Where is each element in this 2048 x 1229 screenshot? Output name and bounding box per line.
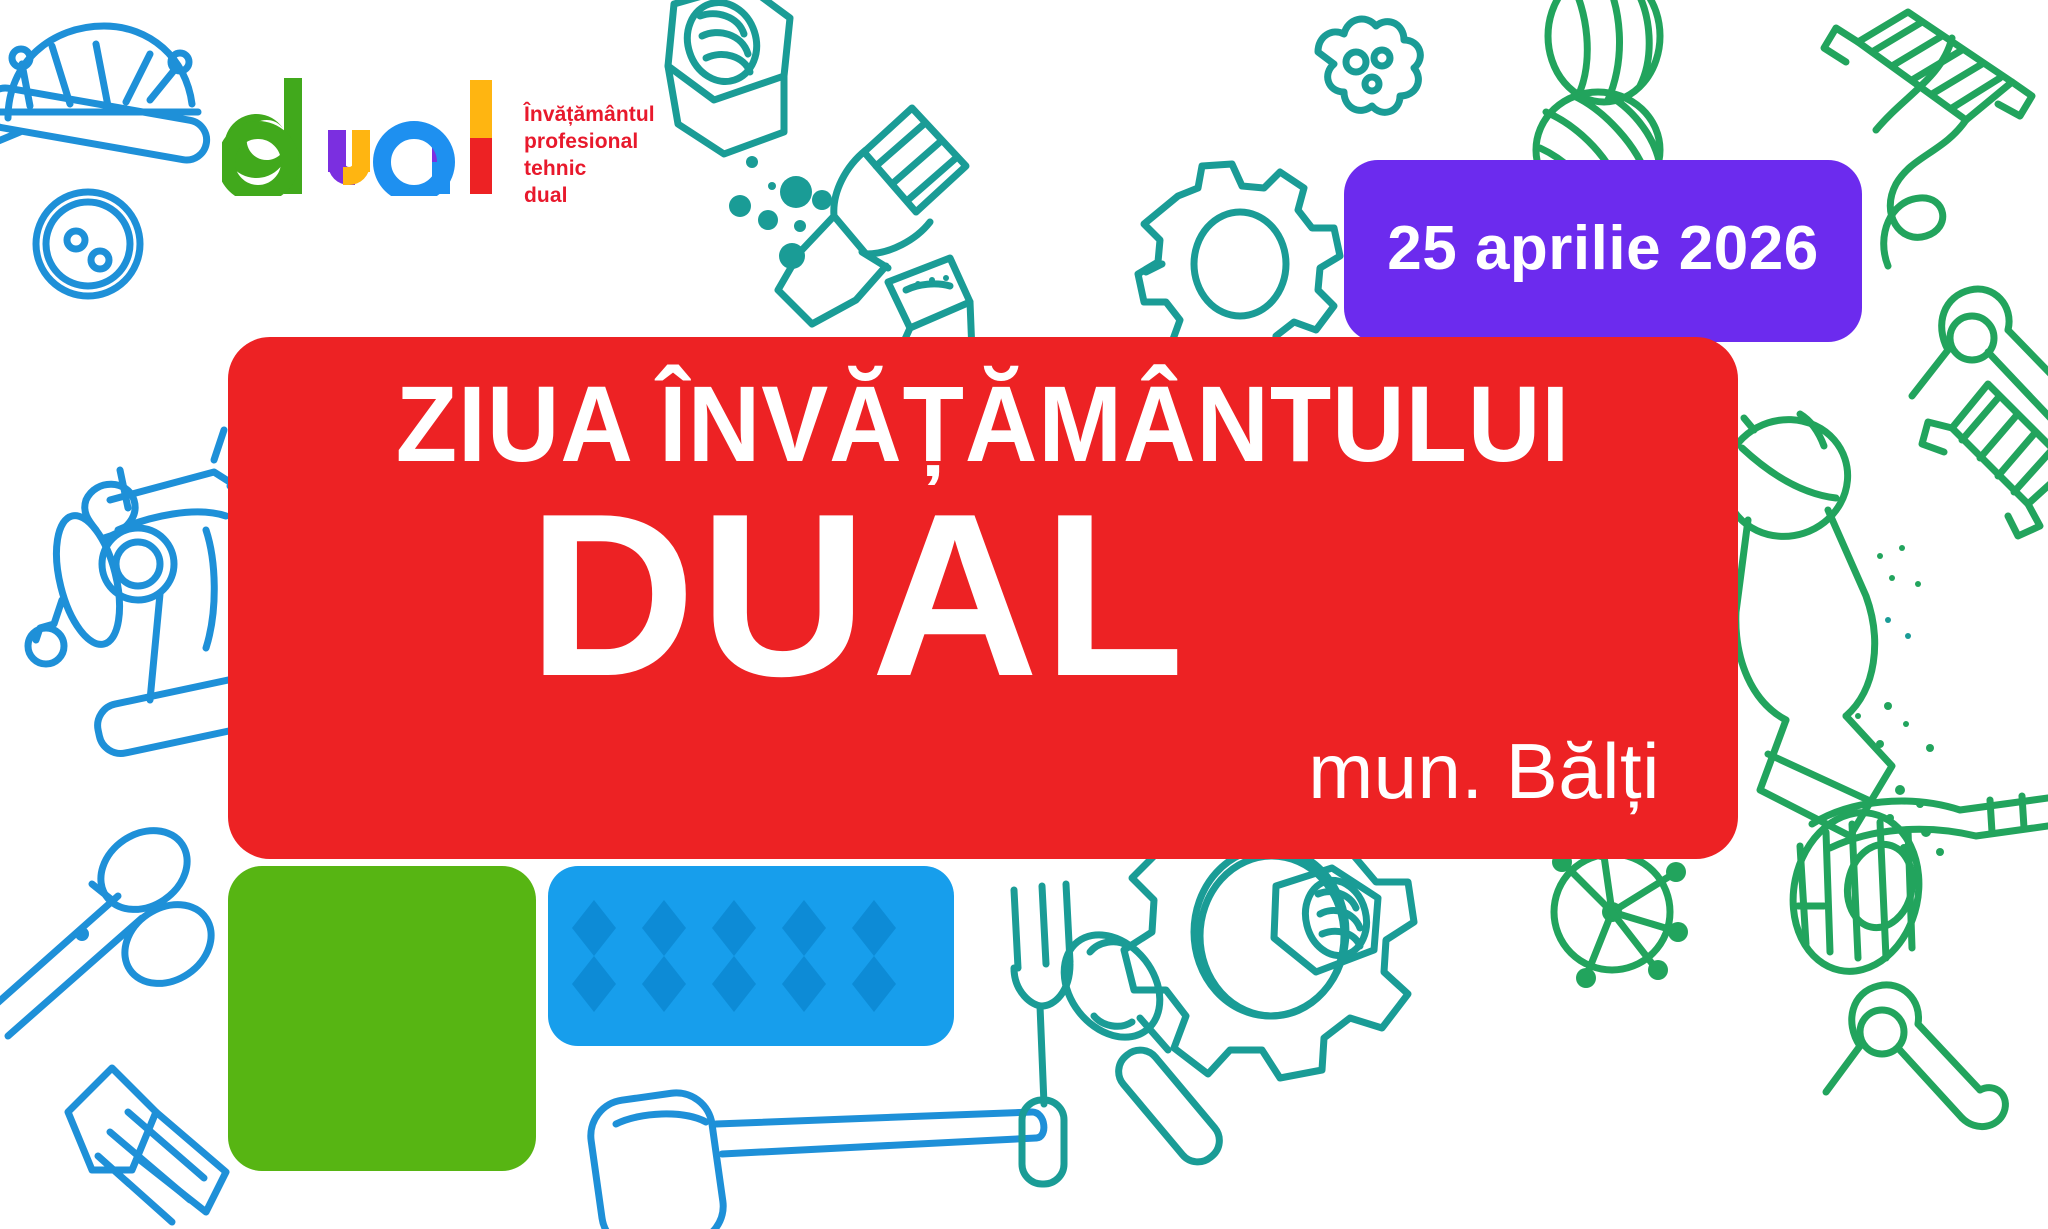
green-block [228,866,536,1171]
fork-icon [1014,884,1070,1184]
logo-letter-l [470,80,492,194]
safety-pin-icon [1912,289,2048,433]
gear-icon [1138,164,1340,364]
salt-grains [729,156,832,269]
dots-decoration [1885,617,1911,639]
hero-title: ZIUA ÎNVĂȚĂMÂNTULUI [281,367,1685,481]
flower-nut-icon [1318,19,1420,112]
blue-block [548,866,954,1046]
logo-letter-d [224,78,302,194]
logo-tagline-line-3: tehnic [524,156,655,183]
yarn-ball-icon [1548,0,1660,102]
logo-letter-u [328,130,370,185]
date-badge: 25 aprilie 2026 [1344,160,1862,342]
hero-place: mun. Bălți [1308,726,1660,817]
logo-tagline: Învățământul profesional tehnic dual [524,102,655,210]
logo-tagline-line-2: profesional [524,129,655,156]
hex-nut-icon [668,0,790,154]
scissors-icon [0,814,226,1036]
dots-decoration [1855,545,1934,752]
bolt-icon [68,1068,226,1222]
hero-word: DUAL [528,485,1188,708]
hero-panel: ZIUA ÎNVĂȚĂMÂNTULUI DUAL mun. Bălți [228,337,1738,859]
button-icon [36,192,140,296]
hex-nut-icon [1274,868,1378,972]
logo-tagline-line-4: dual [524,183,655,210]
logo-tagline-line-1: Învățământul [524,102,655,129]
atom-icon [1552,840,1688,988]
pepper-grains [1886,785,1944,856]
thread-spool-icon [1922,384,2048,536]
thread-line [1876,38,1952,130]
brand-logo: Învățământul profesional tehnic dual [222,78,655,210]
diamond-pattern [548,866,954,1046]
logo-wordmark [222,78,510,196]
poster-canvas: Învățământul profesional tehnic dual 25 … [0,0,2048,1229]
logo-letter-a [382,130,450,194]
screw-bolt-icon [778,108,966,324]
date-badge-text: 25 aprilie 2026 [1387,213,1818,284]
gear-icon [1146,264,1162,272]
measuring-tape-icon [1779,796,2048,983]
spatula-icon [586,1088,1044,1229]
safety-pin-icon [1826,985,2005,1127]
pincushion-icon [0,26,210,163]
spoon-icon [1044,916,1227,1170]
